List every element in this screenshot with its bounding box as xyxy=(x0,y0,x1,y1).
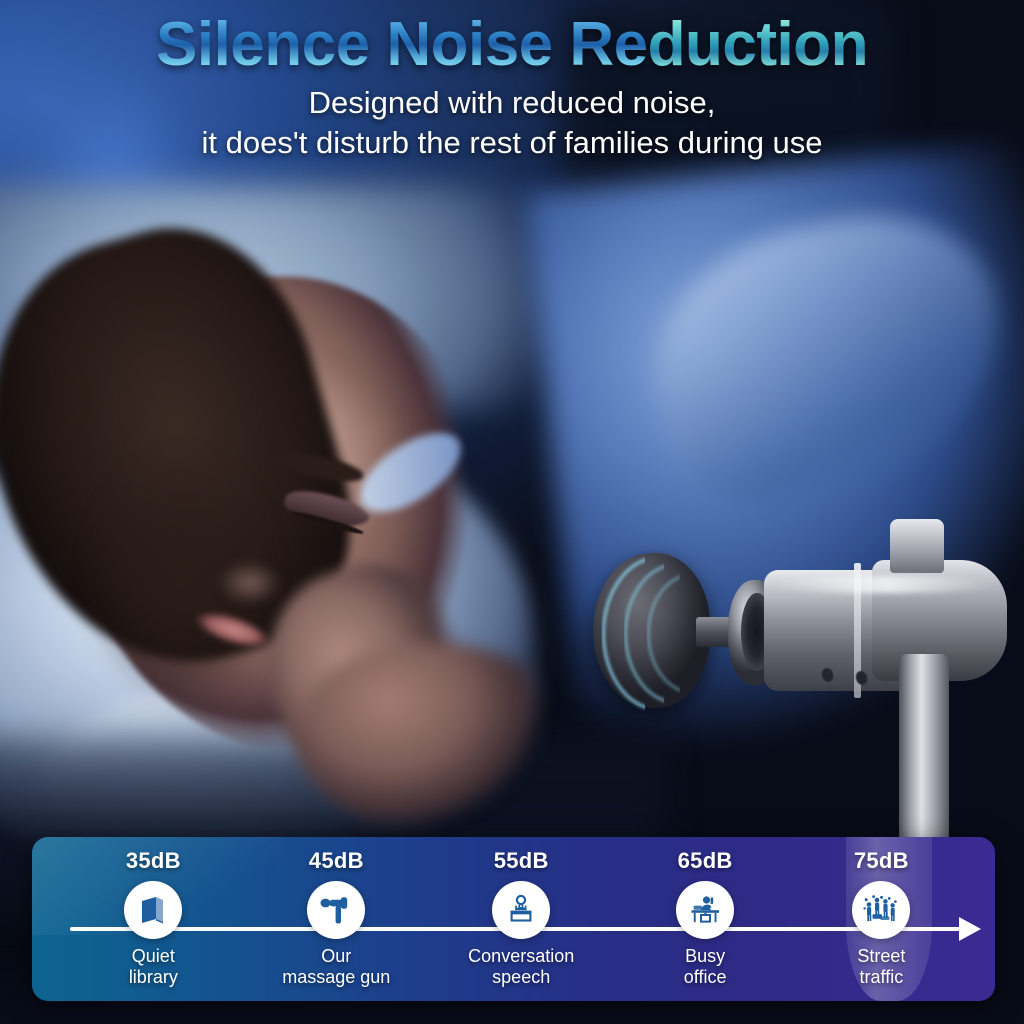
noise-stop-list: 35dB Quiet library45dB Our massage gun55… xyxy=(32,837,995,1001)
noise-stop-caption: Quiet library xyxy=(129,946,178,988)
book-icon xyxy=(124,881,182,939)
page-title-main: Silence Noise Re xyxy=(156,10,648,79)
noise-scale-panel: 35dB Quiet library45dB Our massage gun55… xyxy=(32,837,995,1001)
conversation-speech-icon xyxy=(492,881,550,939)
busy-office-icon xyxy=(676,881,734,939)
gun-motor-cap xyxy=(890,519,944,573)
massage-gun-icon xyxy=(307,881,365,939)
page-title-tail: duction xyxy=(648,10,868,79)
noise-stop-caption: Busy office xyxy=(684,946,727,988)
noise-stop-db: 75dB xyxy=(854,847,909,875)
subtitle-line-2: it does't disturb the rest of families d… xyxy=(201,125,822,160)
noise-stop-db: 55dB xyxy=(494,847,549,875)
noise-stop-3: 55dB Conversation speech xyxy=(436,847,606,988)
promo-image: Silence Noise Reduction Designed with re… xyxy=(0,0,1024,1024)
noise-stop-db: 45dB xyxy=(309,847,364,875)
noise-stop-caption: Our massage gun xyxy=(282,946,390,988)
subtitle: Designed with reduced noise, it does't d… xyxy=(0,83,1024,162)
sleeping-woman xyxy=(20,246,593,799)
noise-stop-2: 45dB Our massage gun xyxy=(251,847,421,988)
noise-stop-caption: Street traffic xyxy=(857,946,905,988)
noise-stop-4: 65dB Busy office xyxy=(620,847,790,988)
nose xyxy=(210,555,290,610)
street-traffic-icon xyxy=(852,881,910,939)
subtitle-line-1: Designed with reduced noise, xyxy=(309,85,716,120)
noise-stop-db: 65dB xyxy=(678,847,733,875)
noise-stop-db: 35dB xyxy=(126,847,181,875)
noise-stop-5: 75dB Street traffic xyxy=(796,847,966,988)
noise-stop-caption: Conversation speech xyxy=(468,946,574,988)
page-title: Silence Noise Reduction xyxy=(0,0,1024,77)
massage-gun xyxy=(584,532,1024,870)
noise-stop-1: 35dB Quiet library xyxy=(68,847,238,988)
header: Silence Noise Reduction Designed with re… xyxy=(0,0,1024,190)
gun-handle xyxy=(899,654,949,864)
